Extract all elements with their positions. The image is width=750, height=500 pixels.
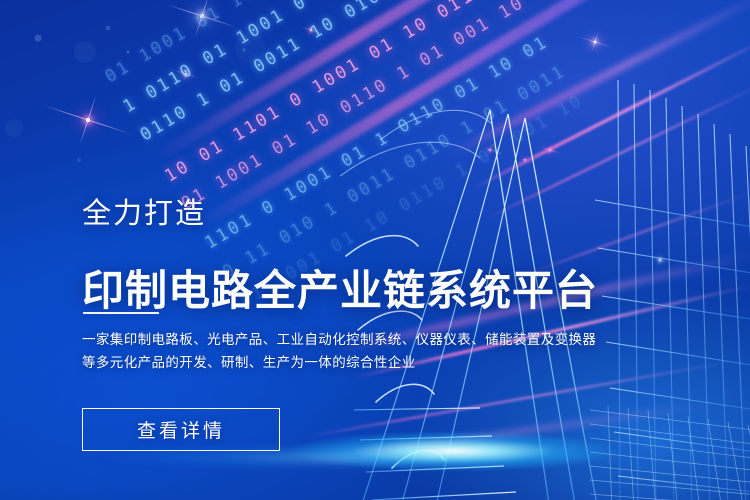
bokeh-dot [35, 35, 42, 42]
hero-content: 全力打造 印制电路全产业链系统平台 一家集印制电路板、光电产品、工业自动化控制系… [82, 0, 682, 500]
view-details-button[interactable]: 查看详情 [82, 408, 280, 451]
bokeh-dot [77, 158, 81, 162]
hero-description-line-1: 一家集印制电路板、光电产品、工业自动化控制系统、仪器仪表、储能装置及变换器 [82, 328, 582, 351]
hero-description-line-2: 等多元化产品的开发、研制、生产为一体的综合性企业 [82, 351, 582, 374]
title-divider [83, 312, 159, 314]
hero-eyebrow: 全力打造 [82, 198, 206, 230]
page-title: 印制电路全产业链系统平台 [82, 268, 598, 314]
bokeh-dot [5, 119, 23, 137]
hero-description: 一家集印制电路板、光电产品、工业自动化控制系统、仪器仪表、储能装置及变换器 等多… [82, 328, 582, 374]
hero-banner: 01 1001 01 10 0110 1 01 001 10 1 0110 01… [0, 0, 750, 500]
